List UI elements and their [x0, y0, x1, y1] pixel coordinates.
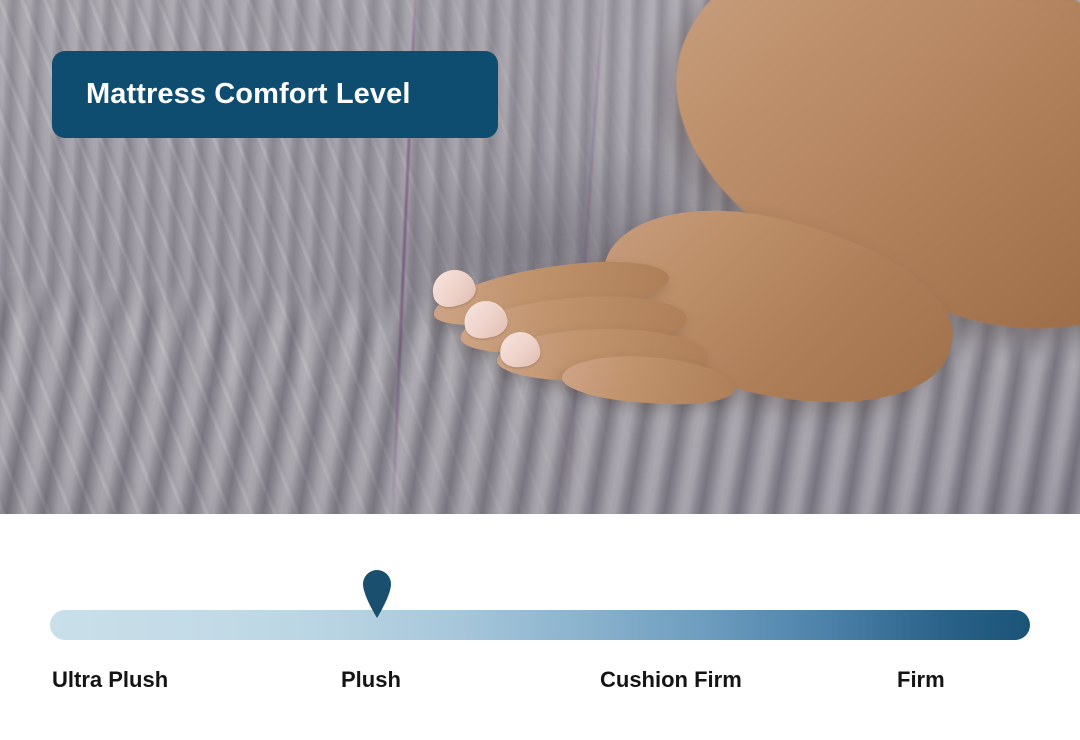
mattress-comfort-level-page: Mattress Comfort Level Ultra Plush Plush…	[0, 0, 1080, 740]
title-badge: Mattress Comfort Level	[52, 51, 498, 138]
scale-label-firm: Firm	[897, 667, 945, 693]
scale-label-ultra-plush: Ultra Plush	[52, 667, 168, 693]
comfort-scale-track-wrapper[interactable]	[50, 610, 1030, 640]
comfort-scale-labels: Ultra Plush Plush Cushion Firm Firm	[0, 667, 1080, 701]
scale-label-plush: Plush	[341, 667, 401, 693]
scale-label-cushion-firm: Cushion Firm	[600, 667, 742, 693]
page-title: Mattress Comfort Level	[86, 78, 411, 111]
comfort-scale-section: Ultra Plush Plush Cushion Firm Firm	[0, 514, 1080, 740]
hero-image-section: Mattress Comfort Level	[0, 0, 1080, 514]
comfort-level-marker-pin[interactable]	[363, 570, 391, 618]
comfort-scale-gradient-bar[interactable]	[50, 610, 1030, 640]
